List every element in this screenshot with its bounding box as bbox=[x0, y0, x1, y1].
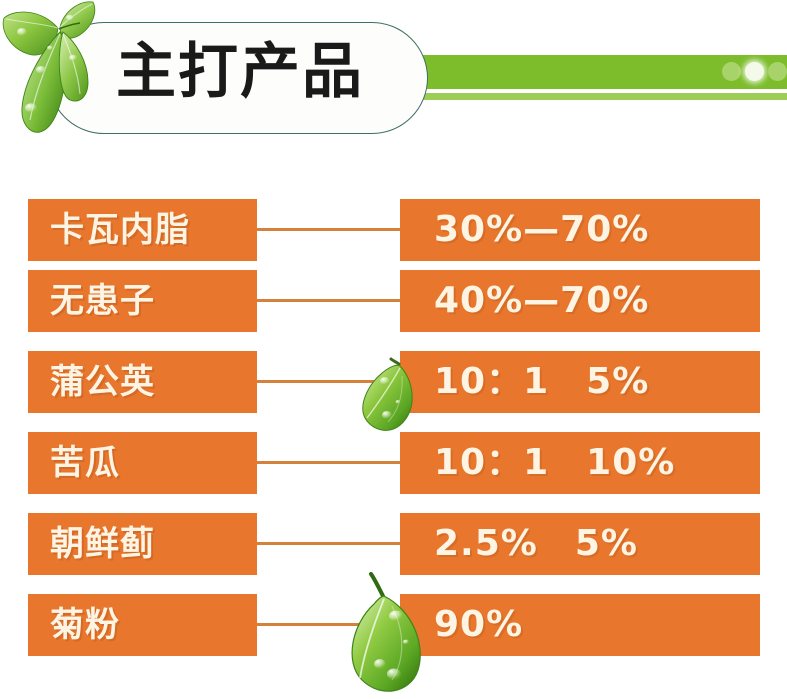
row-connector bbox=[257, 542, 400, 545]
product-name-bar[interactable]: 无患子 bbox=[28, 270, 257, 332]
product-name-bar[interactable]: 朝鲜蓟 bbox=[28, 513, 257, 575]
table-row: 朝鲜蓟 2.5% 5% bbox=[0, 513, 787, 575]
row-connector bbox=[257, 299, 400, 302]
product-name: 无患子 bbox=[50, 281, 155, 321]
row-connector bbox=[257, 228, 400, 231]
product-list: 卡瓦内脂 30%—70% 无患子 40%—70% 蒲公英 10：1 5% bbox=[0, 0, 787, 699]
product-spec: 10：1 5% bbox=[434, 361, 649, 403]
product-spec-bar[interactable]: 2.5% 5% bbox=[400, 513, 760, 575]
product-spec-bar[interactable]: 10：1 10% bbox=[400, 432, 760, 494]
row-connector bbox=[257, 461, 400, 464]
product-name-bar[interactable]: 苦瓜 bbox=[28, 432, 257, 494]
product-highlight-poster: 主打产品 bbox=[0, 0, 787, 699]
product-spec: 40%—70% bbox=[434, 280, 649, 322]
product-spec: 30%—70% bbox=[434, 209, 649, 251]
table-row: 苦瓜 10：1 10% bbox=[0, 432, 787, 494]
product-name: 菊粉 bbox=[50, 605, 120, 645]
row-connector bbox=[257, 380, 400, 383]
table-row: 卡瓦内脂 30%—70% bbox=[0, 199, 787, 261]
product-name-bar[interactable]: 菊粉 bbox=[28, 594, 257, 656]
row-connector bbox=[257, 623, 400, 626]
product-name: 蒲公英 bbox=[50, 362, 155, 402]
product-spec-bar[interactable]: 90% bbox=[400, 594, 760, 656]
product-name: 朝鲜蓟 bbox=[50, 524, 155, 564]
product-spec: 2.5% 5% bbox=[434, 523, 638, 565]
product-spec-bar[interactable]: 30%—70% bbox=[400, 199, 760, 261]
product-spec-bar[interactable]: 10：1 5% bbox=[400, 351, 760, 413]
product-spec-bar[interactable]: 40%—70% bbox=[400, 270, 760, 332]
product-spec: 90% bbox=[434, 604, 523, 646]
product-spec: 10：1 10% bbox=[434, 442, 675, 484]
table-row: 菊粉 90% bbox=[0, 594, 787, 656]
product-name-bar[interactable]: 蒲公英 bbox=[28, 351, 257, 413]
product-name: 卡瓦内脂 bbox=[50, 210, 190, 250]
table-row: 无患子 40%—70% bbox=[0, 270, 787, 332]
product-name: 苦瓜 bbox=[50, 443, 120, 483]
product-name-bar[interactable]: 卡瓦内脂 bbox=[28, 199, 257, 261]
table-row: 蒲公英 10：1 5% bbox=[0, 351, 787, 413]
